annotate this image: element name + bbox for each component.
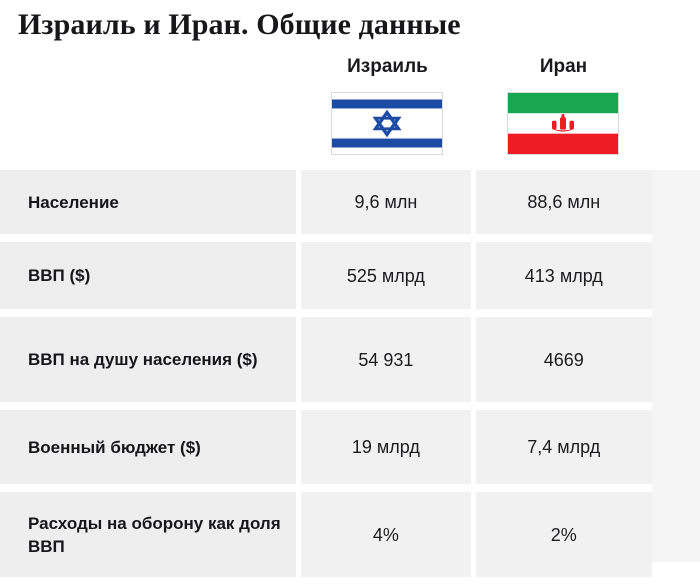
country-column-iran: Иран	[476, 48, 651, 170]
comparison-table: Население 9,6 млн 88,6 млн ВВП ($) 525 м…	[0, 170, 652, 585]
row-label-defense-share-gdp: Расходы на оборону как доля ВВП	[0, 492, 296, 577]
israel-flag-icon	[331, 92, 443, 155]
value-iran-population: 88,6 млн	[476, 170, 652, 234]
title-bar: Израиль и Иран. Общие данные	[0, 0, 700, 48]
table-row: ВВП на душу населения ($) 54 931 4669	[0, 317, 652, 402]
value-israel-gdp-per-capita: 54 931	[301, 317, 470, 402]
value-iran-gdp-per-capita: 4669	[476, 317, 652, 402]
value-israel-military-budget: 19 млрд	[301, 410, 470, 484]
page-title: Израиль и Иран. Общие данные	[18, 6, 461, 44]
table-row: Население 9,6 млн 88,6 млн	[0, 170, 652, 234]
row-label-population: Население	[0, 170, 296, 234]
country-header: Израиль Иран	[0, 48, 700, 170]
country-column-israel: Израиль	[300, 48, 475, 170]
row-label-gdp-per-capita: ВВП на душу населения ($)	[0, 317, 296, 402]
row-label-gdp: ВВП ($)	[0, 242, 296, 309]
infographic-root: Израиль и Иран. Общие данные Израиль Ира…	[0, 0, 700, 580]
table-row: ВВП ($) 525 млрд 413 млрд	[0, 242, 652, 309]
value-iran-military-budget: 7,4 млрд	[476, 410, 652, 484]
value-israel-gdp: 525 млрд	[301, 242, 470, 309]
value-iran-defense-share-gdp: 2%	[476, 492, 652, 577]
country-label-iran: Иран	[476, 56, 651, 78]
country-label-israel: Израиль	[300, 56, 475, 78]
value-iran-gdp: 413 млрд	[476, 242, 652, 309]
page-background-right	[652, 170, 700, 562]
value-israel-population: 9,6 млн	[301, 170, 470, 234]
table-row: Военный бюджет ($) 19 млрд 7,4 млрд	[0, 410, 652, 484]
iran-flag-icon	[507, 92, 619, 155]
value-israel-defense-share-gdp: 4%	[301, 492, 470, 577]
table-row: Расходы на оборону как доля ВВП 4% 2%	[0, 492, 652, 577]
row-label-military-budget: Военный бюджет ($)	[0, 410, 296, 484]
